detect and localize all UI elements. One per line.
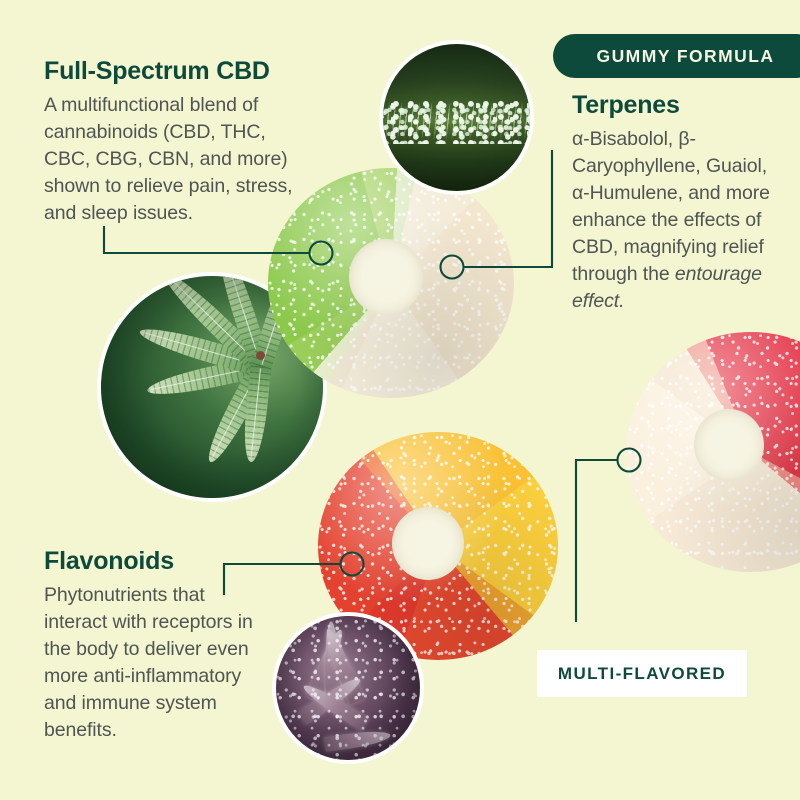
terpenes-body-plain: α-Bisabolol, β-Caryophyllene, Guaiol, α-… (572, 128, 770, 285)
callout-heading-full-spectrum-cbd: Full-Spectrum CBD (44, 58, 294, 86)
multi-flavored-badge: MULTI-FLAVORED (537, 650, 747, 697)
callout-full-spectrum-cbd: Full-Spectrum CBD A multifunctional blen… (44, 58, 294, 227)
callout-terpenes: Terpenes α-Bisabolol, β-Caryophyllene, G… (572, 92, 787, 315)
callout-body-terpenes: α-Bisabolol, β-Caryophyllene, Guaiol, α-… (572, 126, 787, 315)
multi-flavored-badge-label: MULTI-FLAVORED (558, 664, 726, 684)
callout-flavonoids: Flavonoids Phytonutrients that interact … (44, 548, 259, 744)
callout-body-flavonoids: Phytonutrients that interact with recept… (44, 582, 259, 744)
callout-heading-terpenes: Terpenes (572, 92, 787, 120)
green-cream-gummy (268, 168, 514, 398)
infographic-canvas: Full-Spectrum CBD A multifunctional blen… (0, 0, 800, 800)
cream-red-gummy (626, 332, 800, 572)
gummy-center-hole (694, 409, 764, 481)
trichome-crystals (379, 100, 534, 144)
bud-photo-vignette (276, 616, 420, 760)
trichome-macro-photo (379, 40, 534, 195)
callout-body-full-spectrum-cbd: A multifunctional blend of cannabinoids … (44, 92, 294, 227)
gummy-formula-badge-label: GUMMY FORMULA (597, 46, 775, 67)
gummy-formula-badge: GUMMY FORMULA (553, 34, 800, 78)
connector-multi-flavored (576, 460, 617, 622)
callout-heading-flavonoids: Flavonoids (44, 548, 259, 576)
purple-cannabis-bud-photo (272, 612, 424, 764)
gummy-center-hole (349, 239, 423, 315)
